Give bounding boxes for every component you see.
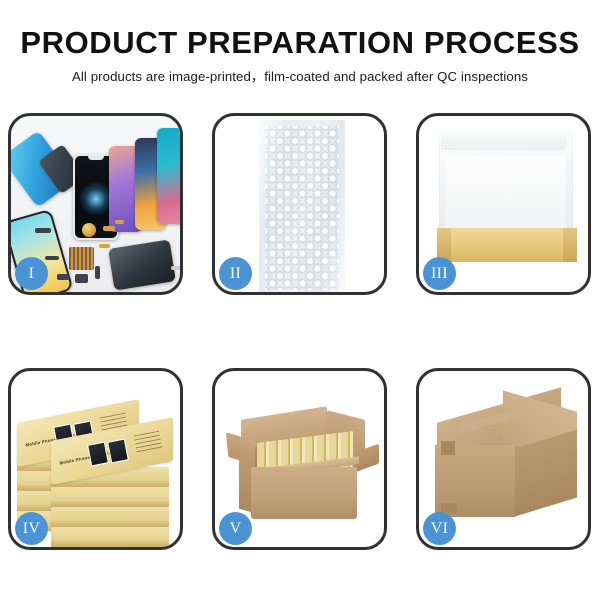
small-part bbox=[35, 228, 51, 233]
small-part bbox=[115, 220, 124, 224]
small-part bbox=[75, 274, 88, 283]
small-part bbox=[45, 256, 59, 260]
screen-glow bbox=[79, 182, 113, 216]
carton-corner-tab bbox=[441, 441, 455, 455]
page-subtitle: All products are image-printed，film-coat… bbox=[0, 66, 600, 85]
plastic-shine bbox=[259, 120, 345, 292]
disassembled-backplate bbox=[108, 239, 176, 290]
process-step-grid: I II III bbox=[8, 113, 592, 550]
foam-liner bbox=[446, 156, 566, 230]
carton-front bbox=[251, 467, 357, 519]
teal-screen-phone bbox=[157, 128, 180, 224]
process-step-1[interactable]: I bbox=[8, 113, 183, 295]
process-step-6[interactable]: VI bbox=[416, 368, 591, 550]
small-part bbox=[57, 274, 69, 280]
process-step-5[interactable]: V bbox=[212, 368, 387, 550]
step-badge-3: III bbox=[423, 257, 456, 290]
small-part bbox=[99, 244, 110, 248]
small-part bbox=[171, 266, 180, 270]
step-badge-5: V bbox=[219, 512, 252, 545]
small-part bbox=[95, 266, 100, 279]
step-badge-4: IV bbox=[15, 512, 48, 545]
phone-notch bbox=[88, 156, 104, 160]
box-window bbox=[87, 441, 109, 466]
chip-grid-component bbox=[69, 247, 94, 270]
process-step-4[interactable]: Mobile Phone Spare Parts Mobile Phone Sp… bbox=[8, 368, 183, 550]
page-title: PRODUCT PREPARATION PROCESS bbox=[0, 26, 600, 59]
gold-component bbox=[82, 223, 96, 237]
box-lid-flap bbox=[441, 130, 567, 150]
bubble-wrap-sheet bbox=[259, 120, 345, 292]
step-badge-1: I bbox=[15, 257, 48, 290]
small-part bbox=[103, 226, 115, 231]
step-badge-6: VI bbox=[423, 512, 456, 545]
page-header: PRODUCT PREPARATION PROCESS All products… bbox=[0, 0, 600, 85]
process-step-2[interactable]: II bbox=[212, 113, 387, 295]
step-badge-2: II bbox=[219, 257, 252, 290]
process-step-3[interactable]: III bbox=[416, 113, 591, 295]
kraft-box-front bbox=[437, 228, 577, 262]
box-window bbox=[107, 438, 129, 463]
